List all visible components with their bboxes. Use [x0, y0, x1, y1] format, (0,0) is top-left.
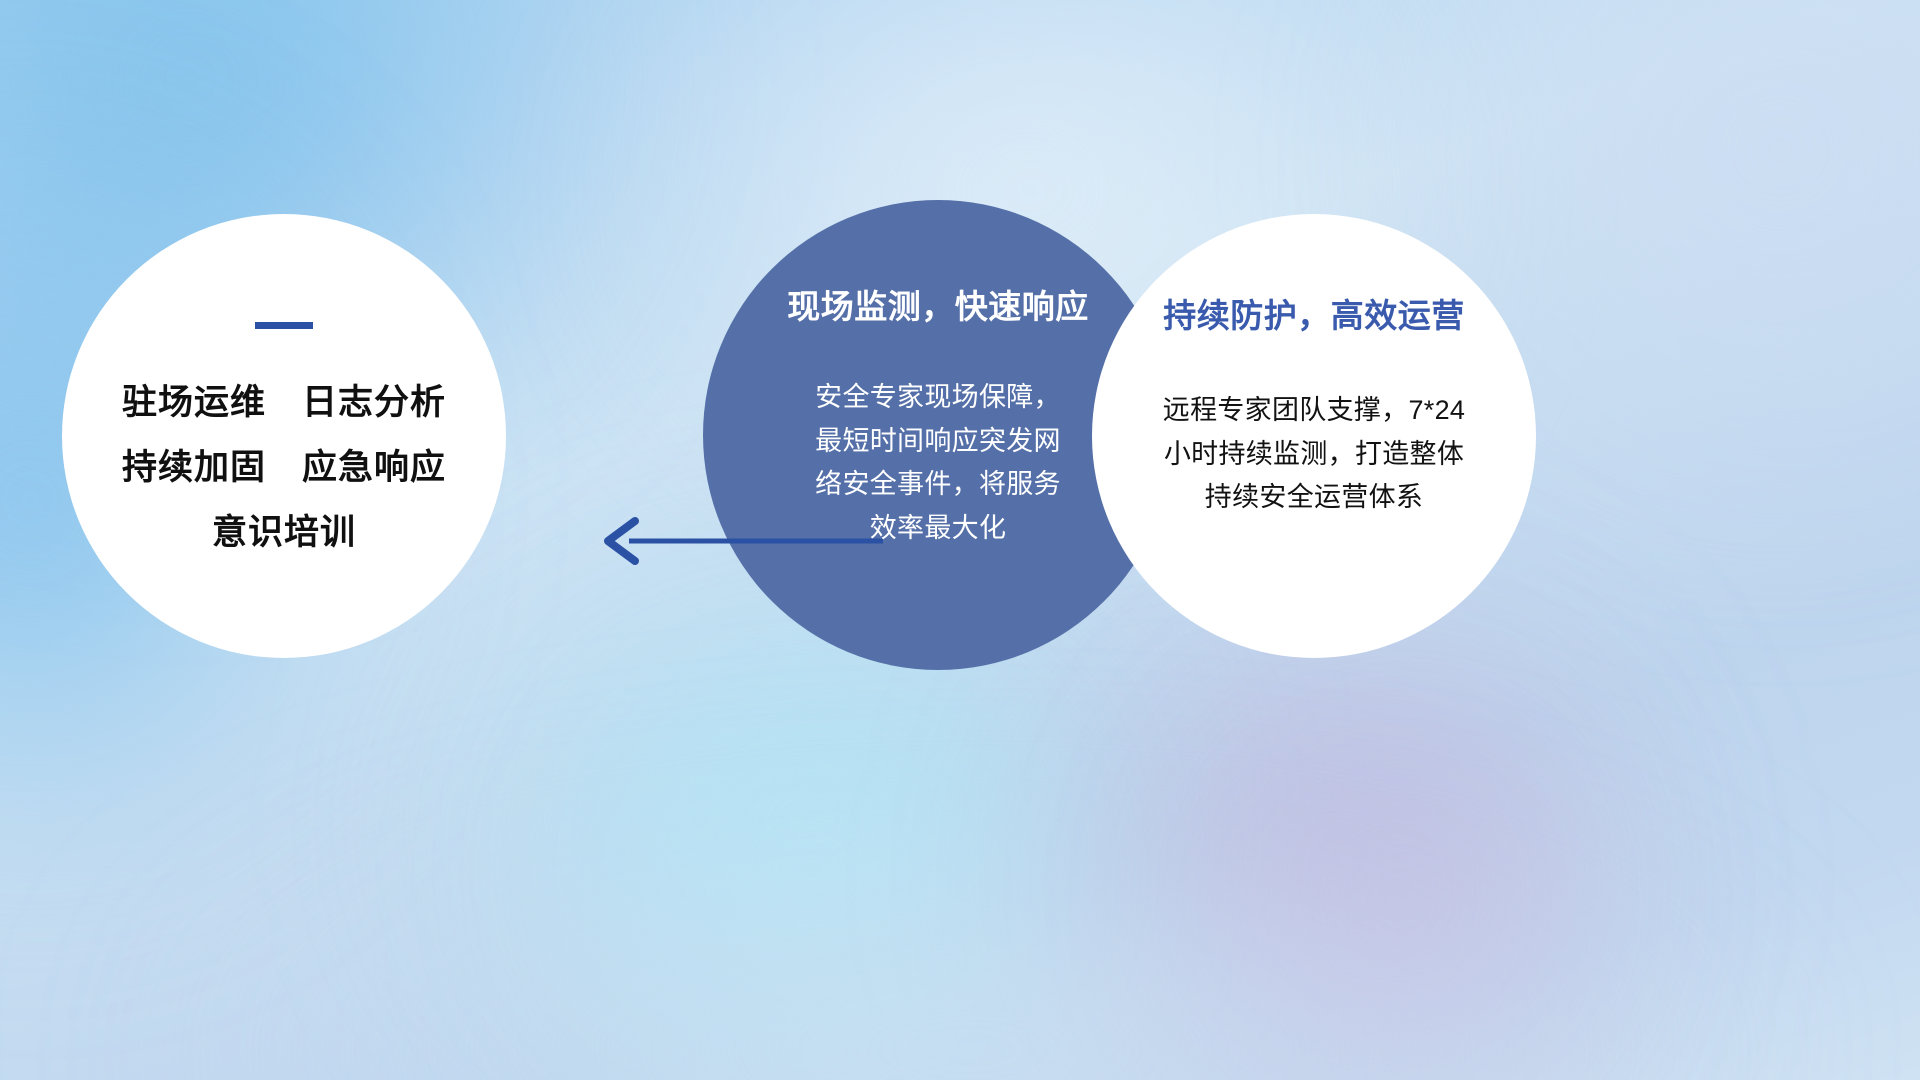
- left-circle-line: 持续加固 应急响应: [122, 450, 446, 485]
- right-body-line: 持续安全运营体系: [1124, 476, 1504, 520]
- right-circle-body: 远程专家团队支撑，7*24 小时持续监测，打造整体 持续安全运营体系: [1124, 389, 1504, 520]
- middle-body-line: 最短时间响应突发网: [783, 420, 1093, 464]
- left-circle-content: 驻场运维 日志分析 持续加固 应急响应 意识培训: [62, 214, 506, 658]
- left-circle-line: 意识培训: [212, 515, 356, 550]
- middle-circle-title: 现场监测，快速响应: [787, 280, 1089, 328]
- left-circle-divider-dash: [255, 322, 313, 329]
- middle-body-line: 安全专家现场保障，: [783, 376, 1093, 420]
- middle-body-line: 络安全事件，将服务: [783, 463, 1093, 507]
- right-body-line: 远程专家团队支撑，7*24: [1124, 389, 1504, 433]
- middle-circle-body: 安全专家现场保障， 最短时间响应突发网 络安全事件，将服务 效率最大化: [783, 376, 1093, 551]
- left-circle-line: 驻场运维 日志分析: [122, 385, 446, 420]
- right-body-line: 小时持续监测，打造整体: [1124, 433, 1504, 477]
- right-circle-title: 持续防护，高效运营: [1163, 289, 1465, 337]
- middle-body-line: 效率最大化: [783, 507, 1093, 551]
- slide-canvas: 现场监测，快速响应 安全专家现场保障， 最短时间响应突发网 络安全事件，将服务 …: [0, 0, 1920, 1080]
- right-circle-content: 持续防护，高效运营 远程专家团队支撑，7*24 小时持续监测，打造整体 持续安全…: [1092, 214, 1536, 658]
